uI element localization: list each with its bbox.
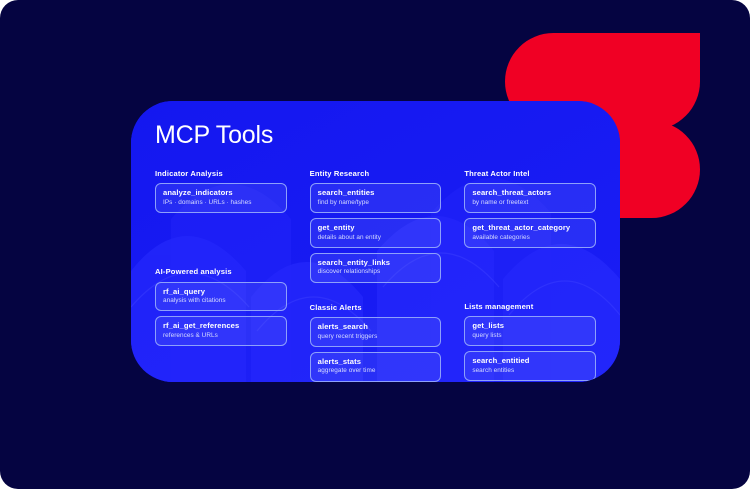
tool-description: query recent triggers xyxy=(318,333,434,341)
tool-description: IPs · domains · URLs · hashes xyxy=(163,199,279,207)
tool-name: search_threat_actors xyxy=(472,188,588,197)
tool-description: by name or freetext xyxy=(472,199,588,207)
tool-card-get-threat-actor-category[interactable]: get_threat_actor_category available cate… xyxy=(464,218,596,248)
tool-description: analysis with citations xyxy=(163,297,279,305)
group-indicator-analysis: Indicator Analysis analyze_indicators IP… xyxy=(155,170,287,213)
column-right: Threat Actor Intel search_threat_actors … xyxy=(464,170,596,382)
group-title: Entity Research xyxy=(310,170,442,178)
group-entity-research: Entity Research search_entities find by … xyxy=(310,170,442,283)
slide-canvas: MCP Tools Indicator Analysis analyze_ind… xyxy=(0,0,750,489)
tool-card-alerts-stats[interactable]: alerts_stats aggregate over time xyxy=(310,352,442,382)
group-title: Classic Alerts xyxy=(310,304,442,312)
group-title: Lists management xyxy=(464,303,596,311)
group-classic-alerts: Classic Alerts alerts_search query recen… xyxy=(310,304,442,382)
tool-description: available categories xyxy=(472,234,588,242)
tool-name: search_entitied xyxy=(472,356,588,365)
tool-name: rf_ai_query xyxy=(163,287,279,296)
tool-card-analyze-indicators[interactable]: analyze_indicators IPs · domains · URLs … xyxy=(155,183,287,213)
tool-name: get_entity xyxy=(318,223,434,232)
group-ai-powered-analysis: AI-Powered analysis rf_ai_query analysis… xyxy=(155,268,287,346)
tool-card-search-entities[interactable]: search_entities find by name/type xyxy=(310,183,442,213)
column-left-spacer xyxy=(155,226,287,268)
tool-name: get_threat_actor_category xyxy=(472,223,588,232)
group-lists-management: Lists management get_lists query lists s… xyxy=(464,303,596,382)
tool-name: alerts_stats xyxy=(318,357,434,366)
mcp-tools-panel: MCP Tools Indicator Analysis analyze_ind… xyxy=(131,101,620,382)
tool-card-get-lists[interactable]: get_lists query lists xyxy=(464,316,596,346)
column-middle: Entity Research search_entities find by … xyxy=(310,170,442,382)
tool-description: references & URLs xyxy=(163,332,279,340)
tool-card-rf-ai-get-references[interactable]: rf_ai_get_references references & URLs xyxy=(155,316,287,346)
tool-card-search-entity-links[interactable]: search_entity_links discover relationshi… xyxy=(310,253,442,283)
group-title: Indicator Analysis xyxy=(155,170,287,178)
tool-name: get_lists xyxy=(472,321,588,330)
tool-description: query lists xyxy=(472,332,588,340)
tool-name: search_entity_links xyxy=(318,258,434,267)
tool-name: alerts_search xyxy=(318,322,434,331)
tool-groups-grid: Indicator Analysis analyze_indicators IP… xyxy=(155,170,596,382)
tool-name: analyze_indicators xyxy=(163,188,279,197)
tool-name: search_entities xyxy=(318,188,434,197)
tool-description: find by name/type xyxy=(318,199,434,207)
tool-card-alerts-search[interactable]: alerts_search query recent triggers xyxy=(310,317,442,347)
group-title: AI-Powered analysis xyxy=(155,268,287,276)
column-right-spacer xyxy=(464,261,596,303)
tool-card-get-entity[interactable]: get_entity details about an entity xyxy=(310,218,442,248)
tool-description: discover relationships xyxy=(318,268,434,276)
tool-description: aggregate over time xyxy=(318,367,434,375)
tool-name: rf_ai_get_references xyxy=(163,321,279,330)
tool-description: search entities xyxy=(472,367,588,375)
group-title: Threat Actor Intel xyxy=(464,170,596,178)
tool-card-search-entitied[interactable]: search_entitied search entities xyxy=(464,351,596,381)
tool-description: details about an entity xyxy=(318,234,434,242)
tool-card-search-threat-actors[interactable]: search_threat_actors by name or freetext xyxy=(464,183,596,213)
group-threat-actor-intel: Threat Actor Intel search_threat_actors … xyxy=(464,170,596,248)
page-title: MCP Tools xyxy=(155,123,596,148)
tool-card-rf-ai-query[interactable]: rf_ai_query analysis with citations xyxy=(155,282,287,312)
panel-content: MCP Tools Indicator Analysis analyze_ind… xyxy=(131,101,620,382)
column-left: Indicator Analysis analyze_indicators IP… xyxy=(155,170,287,382)
